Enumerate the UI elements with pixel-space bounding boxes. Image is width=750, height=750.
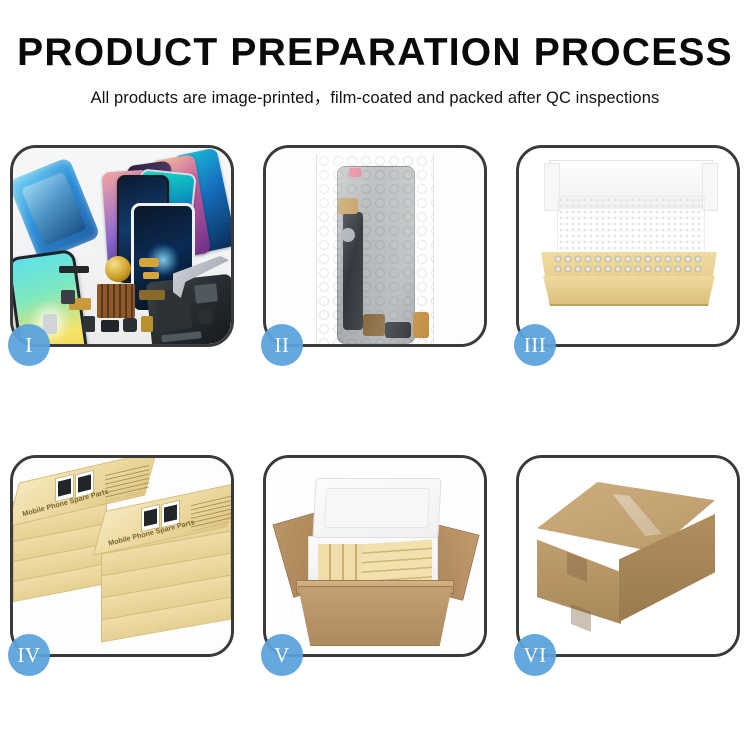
- bubble-wrap-sleeve: [316, 154, 434, 344]
- process-steps-grid: I II: [0, 140, 750, 685]
- step-panel-6: [516, 455, 740, 657]
- step-panel-4: Mobile Phone Spare Parts Mobile Phone Sp…: [10, 455, 234, 657]
- step-panel-1: [10, 145, 234, 347]
- page-title: PRODUCT PREPARATION PROCESS: [0, 33, 750, 74]
- step-badge-5: V: [261, 634, 303, 676]
- spare-part-10: [61, 290, 75, 304]
- step-3-photo: [519, 148, 737, 344]
- plastic-sheen: [317, 154, 433, 344]
- foam-box-lid: [312, 478, 441, 538]
- spare-part-9: [139, 290, 165, 300]
- spare-part-2: [139, 258, 159, 267]
- spare-part-7: [123, 318, 137, 332]
- step-5-photo: [266, 458, 484, 654]
- step-6-photo: [519, 458, 737, 654]
- step-badge-2: II: [261, 324, 303, 366]
- carton-body: [298, 586, 452, 646]
- kraft-box-front: [543, 276, 715, 304]
- page-header: PRODUCT PREPARATION PROCESS All products…: [0, 0, 750, 108]
- step-badge-6: VI: [514, 634, 556, 676]
- spare-part-5: [83, 316, 95, 332]
- step-badge-3: III: [514, 324, 556, 366]
- step-panel-2: [263, 145, 487, 347]
- step-badge-4: IV: [8, 634, 50, 676]
- page-subtitle: All products are image-printed，film-coat…: [0, 84, 750, 108]
- step-1-photo: [13, 148, 231, 344]
- product-preparation-page: PRODUCT PREPARATION PROCESS All products…: [0, 0, 750, 750]
- speaker-coil-icon: [105, 256, 131, 282]
- step-panel-5: [263, 455, 487, 657]
- spare-part-6: [101, 320, 119, 332]
- spare-part-1: [59, 266, 89, 273]
- chip-array-icon: [97, 284, 135, 318]
- step-4-photo: Mobile Phone Spare Parts Mobile Phone Sp…: [13, 458, 231, 654]
- step-2-photo: [266, 148, 484, 344]
- spare-part-3: [143, 272, 159, 279]
- kraft-box-stack: Mobile Phone Spare Parts Mobile Phone Sp…: [13, 458, 231, 654]
- spare-part-8: [141, 316, 153, 332]
- step-badge-1: I: [8, 324, 50, 366]
- foam-sheet: [557, 196, 705, 260]
- phone-mainboard-icon: [146, 274, 231, 344]
- step-panel-3: [516, 145, 740, 347]
